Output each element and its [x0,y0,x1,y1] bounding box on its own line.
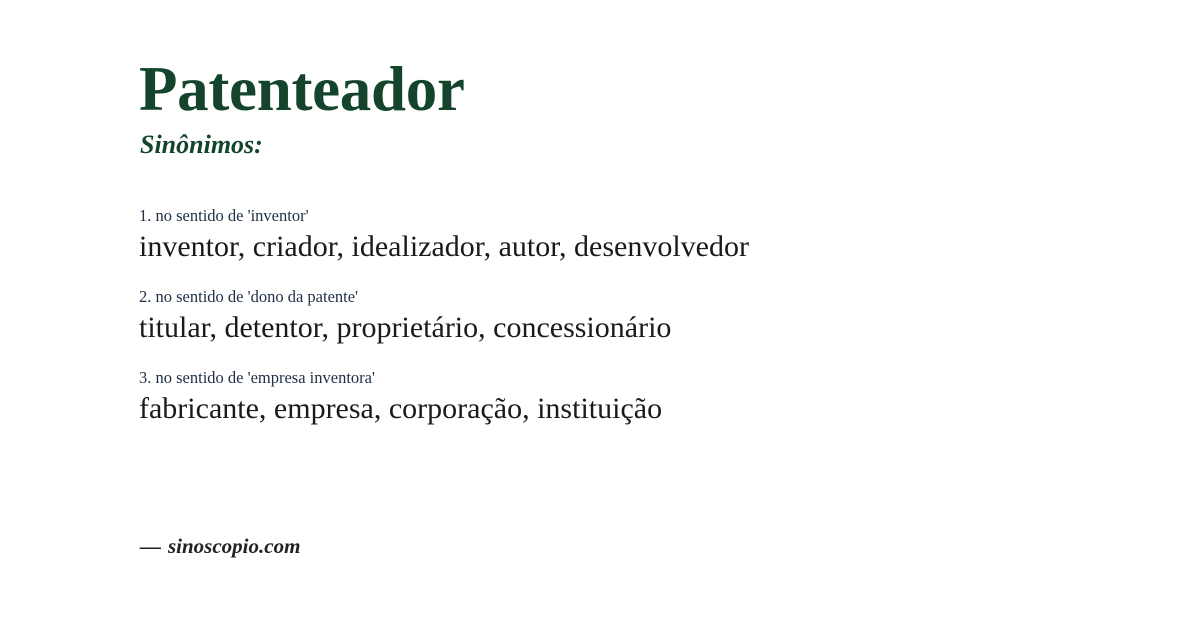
sense-label: 3. no sentido de 'empresa inventora' [139,368,1139,389]
sense-block: 2. no sentido de 'dono da patente' titul… [139,287,1139,346]
sense-list: 1. no sentido de 'inventor' inventor, cr… [139,206,1139,428]
sense-block: 3. no sentido de 'empresa inventora' fab… [139,368,1139,427]
section-subtitle: Sinônimos: [140,132,263,158]
source-attribution: —sinoscopio.com [140,534,300,559]
sense-block: 1. no sentido de 'inventor' inventor, cr… [139,206,1139,265]
source-name: sinoscopio.com [168,534,300,558]
sense-synonyms: titular, detentor, proprietário, concess… [139,310,1139,347]
card-content: Patenteador Sinônimos: 1. no sentido de … [139,0,1139,628]
sense-synonyms: fabricante, empresa, corporação, institu… [139,391,1139,428]
page-title: Patenteador [139,58,465,121]
sense-label: 2. no sentido de 'dono da patente' [139,287,1139,308]
sense-label: 1. no sentido de 'inventor' [139,206,1139,227]
sense-synonyms: inventor, criador, idealizador, autor, d… [139,229,1139,266]
em-dash: — [140,534,161,558]
synonym-card: Patenteador Sinônimos: 1. no sentido de … [0,0,1200,628]
